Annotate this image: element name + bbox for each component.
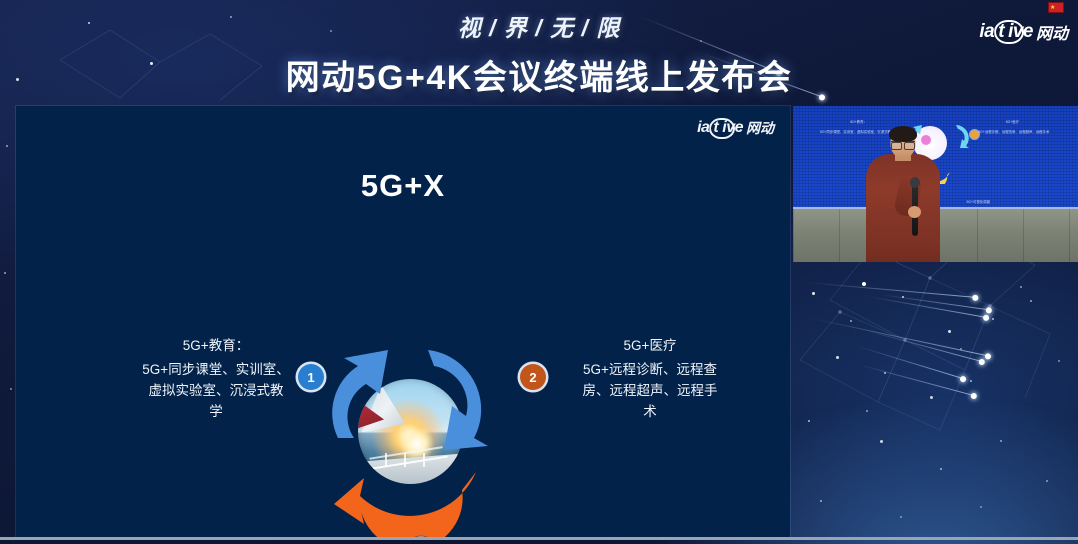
flag-stars: ★ xyxy=(1050,5,1054,11)
cycle-diagram xyxy=(318,354,493,529)
slide-brand-logo: iative 网动 xyxy=(697,118,774,138)
arrow-bottom xyxy=(334,466,484,526)
mini-dispatch-text: 5G+可视化调度 xyxy=(941,200,1015,205)
badge-2: 2 xyxy=(520,364,546,390)
badge-1: 1 xyxy=(298,364,324,390)
eyeglasses-icon xyxy=(891,141,915,148)
playback-progress-fill xyxy=(0,537,1078,540)
page-title: 网动5G+4K会议终端线上发布会 xyxy=(0,50,1078,99)
mini-medical-body: 5G+远程诊断、远程查房、远程超声、远程手术 xyxy=(975,130,1052,135)
playback-progress-bar[interactable] xyxy=(0,537,1078,540)
corner-brand-logo: ★ iative 网动 xyxy=(979,10,1068,44)
mini-arrow-right xyxy=(950,124,972,153)
slide-logo-chinese: 网动 xyxy=(746,118,774,138)
presenter-hand xyxy=(908,206,921,218)
education-body: 5G+同步课堂、实训室、虚拟实验室、沉浸式教学 xyxy=(142,362,289,419)
logo-chinese: 网动 xyxy=(1036,20,1068,44)
education-heading: 5G+教育： xyxy=(142,335,290,356)
logo-mid: t xyxy=(997,21,1005,43)
logo-prefix: ia xyxy=(979,21,994,43)
presenter-video-feed[interactable]: 5G+教育： 5G+同步课堂、实训室、虚拟实验室、沉浸式教学 5G+医疗 5G+… xyxy=(793,106,1078,262)
mini-education-heading: 5G+教育： xyxy=(827,120,890,125)
education-text-block: 5G+教育： 5G+同步课堂、实训室、虚拟实验室、沉浸式教学 xyxy=(142,335,290,422)
mini-medical-heading: 5G+医疗 xyxy=(981,120,1044,125)
slide-title: 5G+X xyxy=(16,168,790,204)
header-subtitle: 视 / 界 / 无 / 限 xyxy=(0,9,1078,43)
medical-heading: 5G+医疗 xyxy=(576,335,724,356)
slide-logo-prefix: ia xyxy=(697,119,709,137)
page-header: 视 / 界 / 无 / 限 网动5G+4K会议终端线上发布会 ★ iative … xyxy=(0,0,1078,104)
presenter-hair xyxy=(889,126,917,142)
arrow-upper-right xyxy=(400,346,510,450)
medical-body: 5G+远程诊断、远程查房、远程超声、远程手术 xyxy=(583,362,718,419)
slide-logo-mid: t xyxy=(712,119,719,137)
app-background: 视 / 界 / 无 / 限 网动5G+4K会议终端线上发布会 ★ iative … xyxy=(0,0,1078,544)
medical-text-block: 5G+医疗 5G+远程诊断、远程查房、远程超声、远程手术 xyxy=(576,335,724,422)
presenter-figure xyxy=(857,128,949,262)
china-flag-icon: ★ xyxy=(1048,2,1064,13)
brand-logo-text: iative 网动 xyxy=(979,20,1068,44)
presentation-slide[interactable]: iative 网动 5G+X xyxy=(16,106,790,538)
